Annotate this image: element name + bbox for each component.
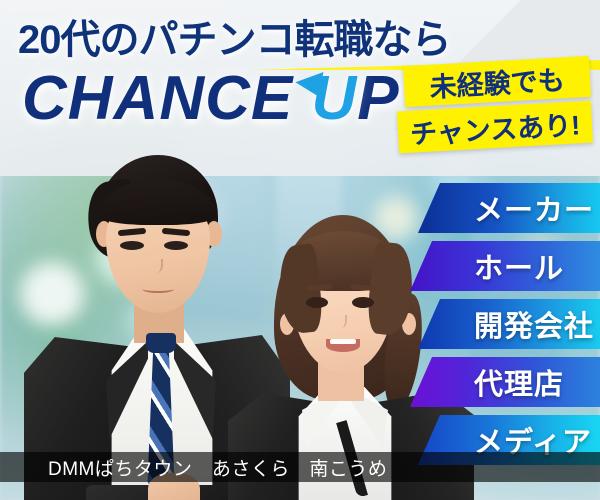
category-bar-maker[interactable]: メーカー bbox=[418, 183, 600, 233]
eye-left bbox=[306, 297, 328, 308]
headline-p-letter: P bbox=[357, 64, 399, 133]
eye-right bbox=[164, 241, 188, 250]
credit-bar: DMMぱちタウン あさくら 南こうめ bbox=[0, 452, 600, 482]
headline-main: CHANCE UP bbox=[22, 68, 400, 130]
eye-right bbox=[352, 297, 374, 308]
necktie-knot bbox=[146, 333, 176, 353]
headline-tagline: 20代のパチンコ転職なら bbox=[18, 20, 451, 60]
category-bar-development-company[interactable]: 開発会社 bbox=[418, 299, 600, 349]
advertising-banner[interactable]: 20代のパチンコ転職なら CHANCE UP 未経験でも チャンスあり! メーカ… bbox=[0, 0, 600, 500]
teeth bbox=[330, 339, 356, 344]
eye-left bbox=[120, 241, 144, 250]
category-bar-hall[interactable]: ホール bbox=[410, 241, 600, 291]
mouth bbox=[142, 285, 174, 293]
category-bar-agency[interactable]: 代理店 bbox=[410, 357, 600, 407]
headline-chance-text: CHANCE bbox=[22, 64, 311, 133]
